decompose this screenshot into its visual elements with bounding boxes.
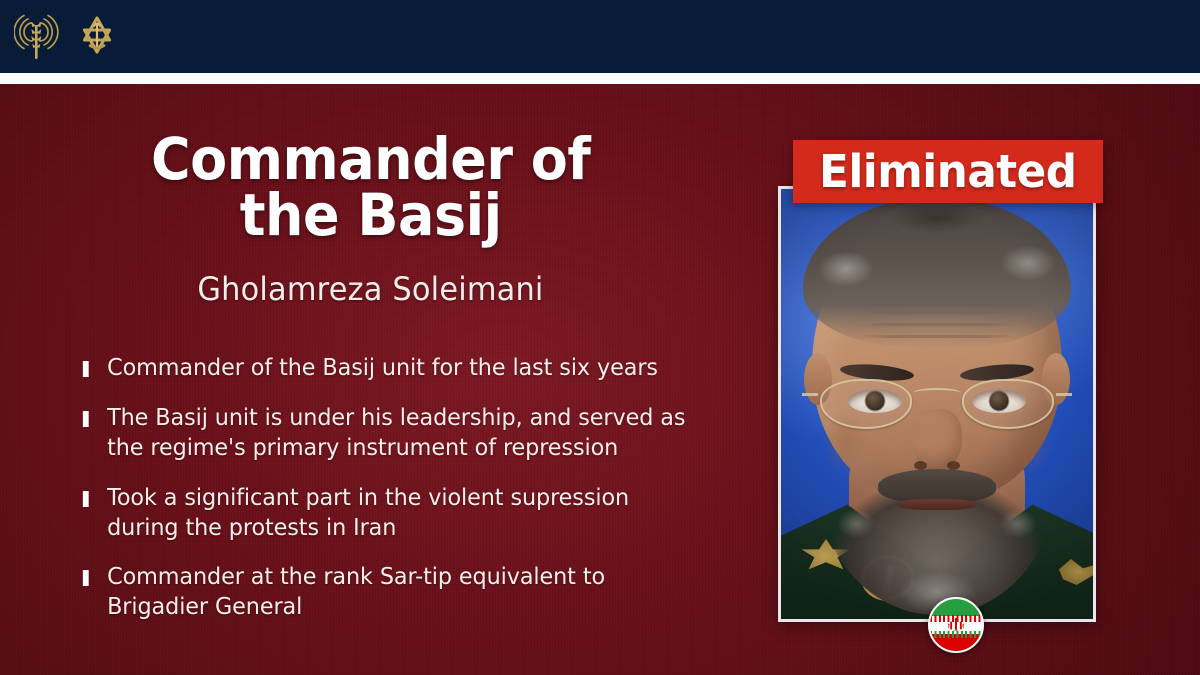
portrait-figure [781, 189, 1093, 619]
status-badge-label: Eliminated [819, 149, 1077, 194]
content-column: Commander of the Basij Gholamreza Soleim… [0, 84, 760, 675]
list-item: Took a significant part in the violent s… [78, 484, 699, 544]
list-item-text: Commander of the Basij unit for the last… [107, 355, 658, 381]
status-badge: Eliminated [793, 140, 1103, 203]
header-bar [0, 0, 1200, 73]
portrait-mouth [898, 499, 976, 510]
header-divider [0, 73, 1200, 84]
bullet-marker-icon [83, 411, 89, 427]
page-subtitle: Gholamreza Soleimani [19, 270, 741, 308]
iran-flag-badge-icon [928, 597, 984, 653]
list-item-text: The Basij unit is under his leadership, … [107, 405, 685, 461]
uniform-epaulette [1059, 559, 1093, 585]
slide-root: Commander of the Basij Gholamreza Soleim… [0, 0, 1200, 675]
portrait-card [778, 186, 1096, 622]
bullet-marker-icon [83, 570, 89, 586]
list-item: Commander at the rank Sar-tip equivalent… [78, 563, 699, 623]
portrait-photo [781, 189, 1093, 619]
bullet-marker-icon [83, 491, 89, 507]
page-title: Commander of the Basij [27, 131, 734, 244]
page-title-line-1: Commander of [27, 131, 715, 187]
list-item: The Basij unit is under his leadership, … [78, 404, 699, 464]
header-logos [14, 11, 120, 63]
page-title-line-2: the Basij [27, 187, 715, 243]
list-item-text: Took a significant part in the violent s… [107, 485, 629, 541]
portrait-moustache [878, 469, 996, 503]
idf-emblem-icon [74, 11, 120, 63]
list-item: Commander of the Basij unit for the last… [78, 354, 699, 384]
bullet-list: Commander of the Basij unit for the last… [78, 354, 718, 623]
idf-spokesperson-logo-icon [14, 11, 60, 63]
list-item-text: Commander at the rank Sar-tip equivalent… [107, 564, 605, 620]
bullet-marker-icon [83, 361, 89, 377]
portrait-hair [803, 197, 1071, 347]
